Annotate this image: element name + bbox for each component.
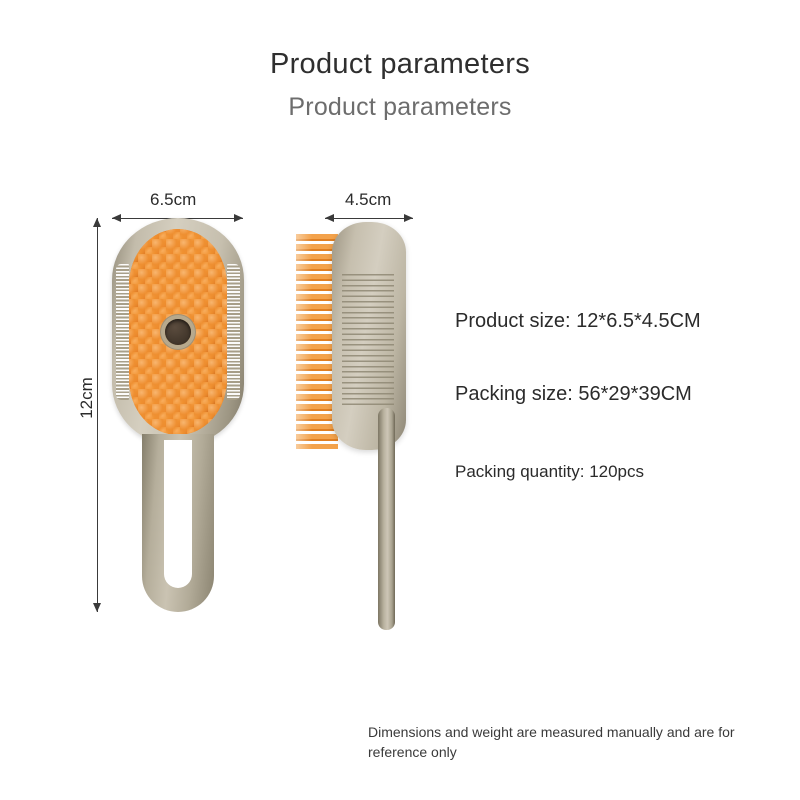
comb-ridge-lines [342, 274, 394, 406]
comb-teeth-left [116, 264, 129, 400]
page-title: Product parameters [0, 48, 800, 81]
product-front-view [112, 218, 244, 612]
steam-port-icon [165, 319, 191, 345]
product-side-view [296, 222, 431, 622]
comb-teeth-right [227, 264, 240, 400]
dimension-line-height [97, 218, 98, 612]
dimension-label-height: 12cm [77, 373, 97, 423]
loop-handle-front [142, 434, 214, 612]
loop-handle-side [378, 408, 395, 630]
page-subtitle: Product parameters [0, 93, 800, 122]
arrow-up-icon [93, 218, 101, 227]
spec-product-size: Product size: 12*6.5*4.5CM [455, 310, 701, 333]
spec-packing-quantity: Packing quantity: 120pcs [455, 462, 644, 482]
spec-packing-size: Packing size: 56*29*39CM [455, 383, 692, 406]
dimension-label-width-side: 4.5cm [345, 190, 391, 210]
loop-handle-opening [164, 440, 192, 588]
disclaimer-text: Dimensions and weight are measured manua… [368, 722, 768, 763]
brush-head-front [112, 218, 244, 446]
dimension-line-width-side [325, 218, 413, 219]
arrow-left-icon [325, 214, 334, 222]
dimension-label-width-front: 6.5cm [150, 190, 196, 210]
arrow-right-icon [404, 214, 413, 222]
product-parameters-page: Product parameters Product parameters 6.… [0, 0, 800, 800]
arrow-down-icon [93, 603, 101, 612]
